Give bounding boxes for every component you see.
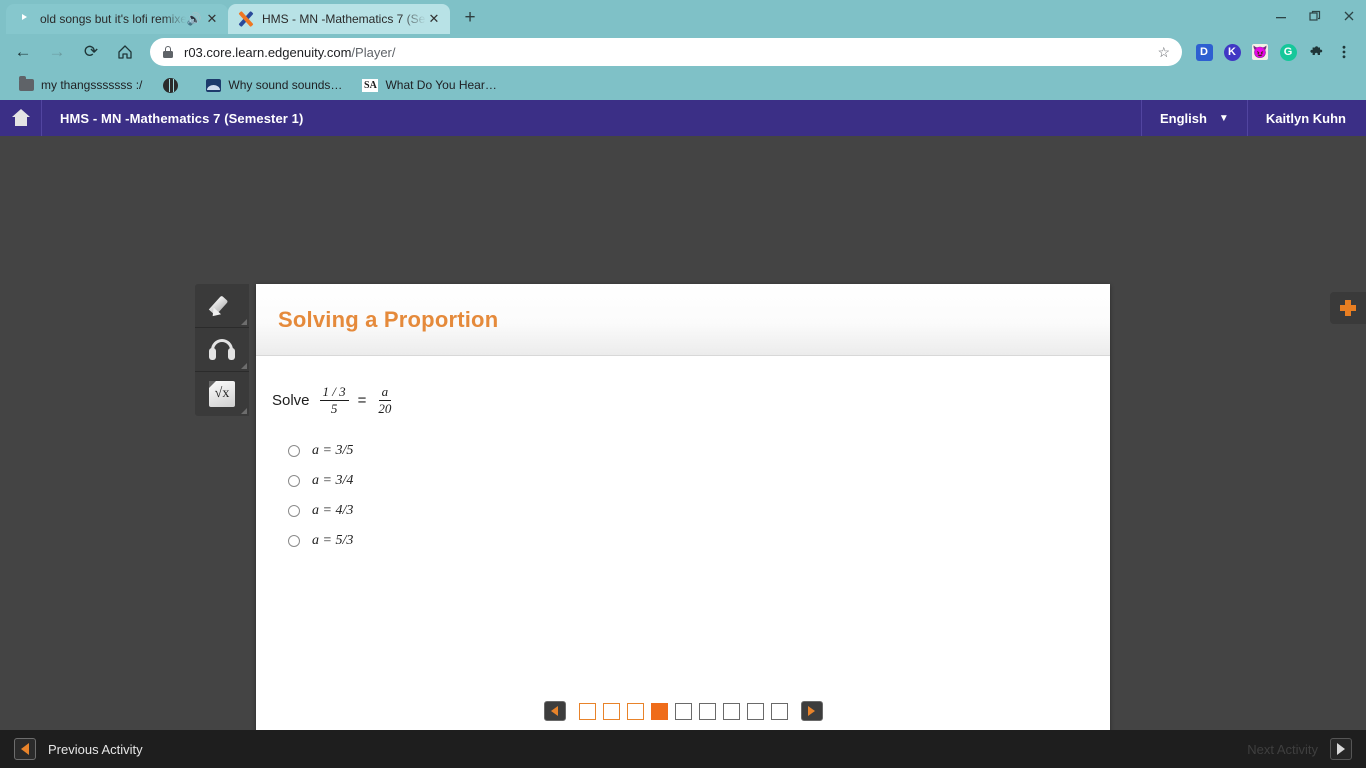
fraction-numerator: 1 / 3 bbox=[320, 385, 349, 401]
chevron-down-icon: ▼ bbox=[1219, 113, 1229, 124]
bookmark-label: Why sound sounds… bbox=[228, 78, 342, 92]
browser-tab-youtube[interactable]: old songs but it's lofi remixe 🔊 ✕ bbox=[6, 4, 228, 34]
course-title: HMS - MN -Mathematics 7 (Semester 1) bbox=[60, 111, 303, 126]
math-sqrt-icon: √x bbox=[209, 381, 235, 407]
radio-button[interactable] bbox=[288, 505, 300, 517]
back-icon[interactable]: ← bbox=[8, 37, 38, 67]
maximize-icon[interactable] bbox=[1298, 0, 1332, 32]
progress-step[interactable] bbox=[747, 703, 764, 720]
question-prefix: Solve bbox=[272, 392, 310, 409]
language-selector[interactable]: English ▼ bbox=[1141, 100, 1247, 136]
next-activity-icon[interactable] bbox=[1330, 738, 1352, 760]
browser-tab-edgenuity[interactable]: HMS - MN -Mathematics 7 (Sem ✕ bbox=[228, 4, 450, 34]
globe-icon bbox=[162, 77, 178, 93]
bookmark-what-do-you-hear[interactable]: SA What Do You Hear… bbox=[354, 73, 504, 97]
progress-step-current[interactable] bbox=[651, 703, 668, 720]
headphones-icon bbox=[209, 339, 235, 361]
chevron-right-icon bbox=[808, 706, 815, 716]
new-tab-button[interactable]: + bbox=[456, 4, 484, 32]
next-activity-label: Next Activity bbox=[1247, 742, 1318, 757]
tab-close-icon[interactable]: ✕ bbox=[204, 11, 220, 27]
previous-activity-icon[interactable] bbox=[14, 738, 36, 760]
right-fraction: a 20 bbox=[375, 385, 394, 415]
progress-step[interactable] bbox=[723, 703, 740, 720]
pencil-icon bbox=[209, 293, 235, 319]
equals-sign: = bbox=[358, 392, 367, 409]
home-icon[interactable] bbox=[110, 37, 140, 67]
answer-option[interactable]: a = 4/3 bbox=[272, 496, 1088, 526]
answer-option[interactable]: a = 3/4 bbox=[272, 466, 1088, 496]
header-right: English ▼ Kaitlyn Kuhn bbox=[1141, 100, 1366, 136]
tab-strip: old songs but it's lofi remixe 🔊 ✕ HMS -… bbox=[0, 0, 1366, 34]
browser-toolbar: ← → ⟳ r03.core.learn.edgenuity.com /Play… bbox=[0, 34, 1366, 70]
page-title: Solving a Proportion bbox=[278, 307, 498, 333]
forward-icon[interactable]: → bbox=[42, 37, 72, 67]
language-label: English bbox=[1160, 111, 1207, 126]
tab-title: old songs but it's lofi remixe bbox=[40, 12, 186, 26]
lock-icon bbox=[162, 46, 174, 58]
bookmark-globe[interactable] bbox=[154, 73, 193, 97]
answer-label: a = 3/5 bbox=[312, 443, 353, 459]
lesson-header: Solving a Proportion bbox=[256, 284, 1110, 356]
url-path: /Player/ bbox=[351, 45, 395, 60]
window-controls bbox=[1264, 0, 1366, 32]
fraction-denominator: 5 bbox=[328, 401, 341, 416]
bookmark-label: What Do You Hear… bbox=[385, 78, 496, 92]
plus-icon bbox=[1340, 300, 1356, 316]
radio-button[interactable] bbox=[288, 535, 300, 547]
progress-step[interactable] bbox=[603, 703, 620, 720]
browser-menu-icon[interactable] bbox=[1330, 38, 1358, 66]
extension-k[interactable]: K bbox=[1218, 38, 1246, 66]
progress-next-button[interactable] bbox=[801, 701, 823, 721]
extension-d[interactable]: D bbox=[1190, 38, 1218, 66]
close-icon[interactable] bbox=[1332, 0, 1366, 32]
answer-option[interactable]: a = 5/3 bbox=[272, 526, 1088, 556]
progress-step[interactable] bbox=[699, 703, 716, 720]
answer-label: a = 3/4 bbox=[312, 473, 353, 489]
answer-label: a = 5/3 bbox=[312, 533, 353, 549]
tab-audio-icon[interactable]: 🔊 bbox=[186, 12, 202, 26]
previous-activity-button[interactable]: Previous Activity bbox=[14, 738, 143, 760]
extension-face[interactable]: 😈 bbox=[1246, 38, 1274, 66]
progress-step[interactable] bbox=[675, 703, 692, 720]
address-bar[interactable]: r03.core.learn.edgenuity.com /Player/ ☆ bbox=[150, 38, 1182, 66]
home-button[interactable] bbox=[0, 100, 42, 136]
progress-step[interactable] bbox=[627, 703, 644, 720]
calculator-tool[interactable]: √x bbox=[195, 372, 249, 416]
youtube-icon bbox=[16, 11, 32, 27]
url-host: r03.core.learn.edgenuity.com bbox=[184, 45, 351, 60]
left-fraction: 1 / 3 5 bbox=[320, 385, 349, 415]
reload-icon[interactable]: ⟳ bbox=[76, 37, 106, 67]
edgenuity-x-icon bbox=[238, 11, 254, 27]
question-statement: Solve 1 / 3 5 = a 20 bbox=[272, 378, 1088, 422]
next-activity-button[interactable]: Next Activity bbox=[1247, 738, 1352, 760]
app-header: HMS - MN -Mathematics 7 (Semester 1) Eng… bbox=[0, 100, 1366, 136]
extensions-puzzle-icon[interactable] bbox=[1302, 38, 1330, 66]
progress-step[interactable] bbox=[579, 703, 596, 720]
highlighter-tool[interactable] bbox=[195, 284, 249, 328]
chevron-left-icon bbox=[551, 706, 558, 716]
minimize-icon[interactable] bbox=[1264, 0, 1298, 32]
answer-label: a = 4/3 bbox=[312, 503, 353, 519]
lesson-stage: √x Solving a Proportion Solve 1 / 3 5 = … bbox=[0, 136, 1366, 768]
answer-choices: a = 3/5 a = 3/4 a = 4/3 a = 5/3 bbox=[272, 436, 1088, 556]
previous-activity-label: Previous Activity bbox=[48, 742, 143, 757]
radio-button[interactable] bbox=[288, 445, 300, 457]
answer-option[interactable]: a = 3/5 bbox=[272, 436, 1088, 466]
progress-strip bbox=[0, 696, 1366, 726]
bookmark-folder[interactable]: my thangsssssss :/ bbox=[10, 73, 150, 97]
extension-bar: D K 😈 G bbox=[1190, 38, 1358, 66]
sa-icon: SA bbox=[362, 77, 378, 93]
tool-palette: √x bbox=[195, 284, 249, 416]
progress-prev-button[interactable] bbox=[544, 701, 566, 721]
activity-bar: Previous Activity Next Activity bbox=[0, 730, 1366, 768]
add-panel-button[interactable] bbox=[1330, 292, 1366, 324]
bookmark-star-icon[interactable]: ☆ bbox=[1157, 44, 1170, 61]
tab-close-icon[interactable]: ✕ bbox=[426, 11, 442, 27]
bookmark-why-sound-sounds[interactable]: Why sound sounds… bbox=[197, 73, 350, 97]
browser-chrome: old songs but it's lofi remixe 🔊 ✕ HMS -… bbox=[0, 0, 1366, 100]
fraction-numerator: a bbox=[379, 385, 392, 401]
radio-button[interactable] bbox=[288, 475, 300, 487]
tab-title: HMS - MN -Mathematics 7 (Sem bbox=[262, 12, 426, 26]
extension-g[interactable]: G bbox=[1274, 38, 1302, 66]
folder-icon bbox=[18, 77, 34, 93]
progress-step[interactable] bbox=[771, 703, 788, 720]
user-name[interactable]: Kaitlyn Kuhn bbox=[1247, 100, 1366, 136]
wave-icon bbox=[205, 77, 221, 93]
audio-tool[interactable] bbox=[195, 328, 249, 372]
bookmark-label: my thangsssssss :/ bbox=[41, 78, 142, 92]
fraction-denominator: 20 bbox=[375, 401, 394, 416]
bookmarks-bar: my thangsssssss :/ Why sound sounds… SA … bbox=[0, 70, 1366, 100]
